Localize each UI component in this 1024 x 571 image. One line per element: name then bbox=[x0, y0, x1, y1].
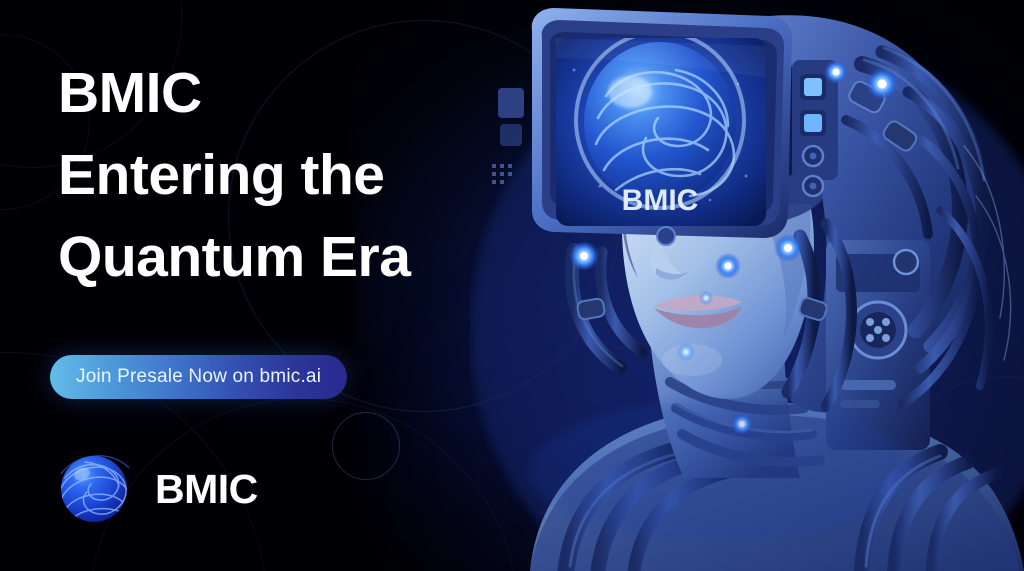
face-led-lip bbox=[699, 291, 713, 305]
bmic-sphere-logo bbox=[55, 450, 133, 528]
brand-wordmark: BMIC bbox=[155, 466, 258, 513]
join-presale-button[interactable]: Join Presale Now on bmic.ai bbox=[50, 355, 347, 399]
headset-indicator-1 bbox=[804, 78, 822, 96]
headset-indicator-2 bbox=[804, 114, 822, 132]
headline-line-3: Quantum Era bbox=[58, 216, 410, 298]
headline-block: BMIC Entering the Quantum Era bbox=[58, 52, 410, 298]
face-led-chin bbox=[677, 343, 695, 361]
headline-line-2: Entering the bbox=[58, 134, 410, 216]
cyborg-woman-vr-headset: BMIC bbox=[470, 0, 1024, 571]
bmic-presale-banner: BMIC bbox=[0, 0, 1024, 571]
brand-lockup: BMIC bbox=[55, 450, 258, 528]
headset-bottom-nub bbox=[657, 227, 675, 245]
join-presale-button-label: Join Presale Now on bmic.ai bbox=[76, 366, 321, 388]
headset-screen-wordmark: BMIC bbox=[622, 184, 699, 217]
headline-line-1: BMIC bbox=[58, 52, 410, 134]
